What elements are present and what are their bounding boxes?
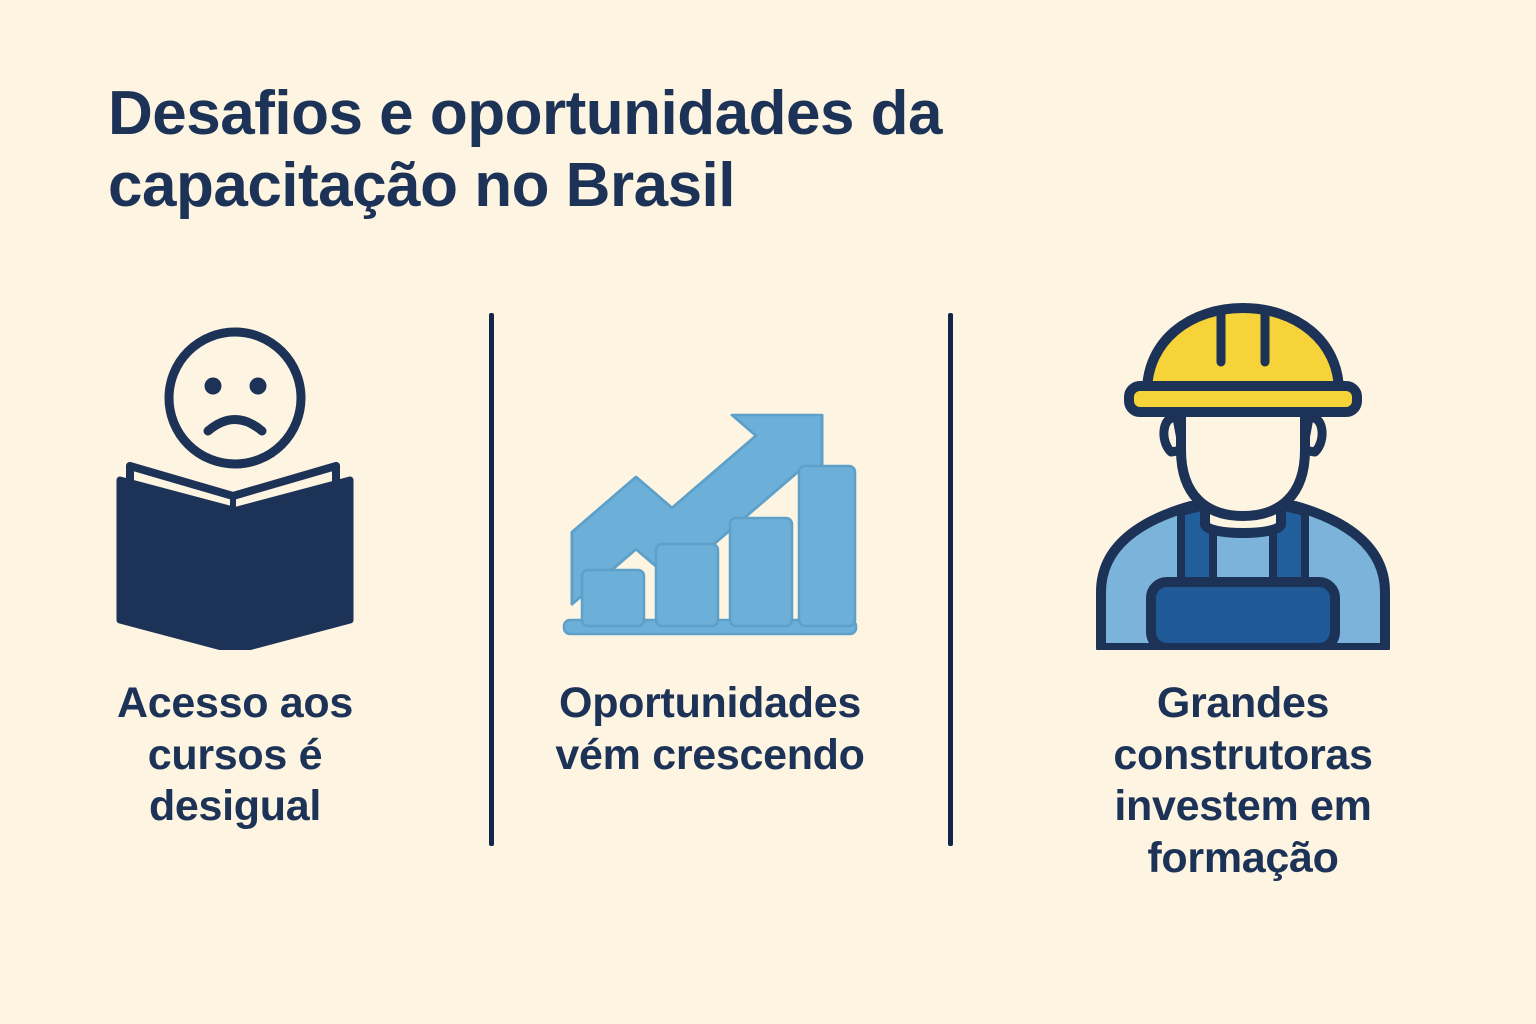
sad-face-reading-book-icon <box>100 320 370 650</box>
chart-bar <box>799 466 855 626</box>
icon-wrap-3 <box>1063 300 1423 650</box>
construction-worker-icon <box>1063 300 1423 650</box>
chart-bar <box>582 570 644 626</box>
hard-hat-dome <box>1147 308 1339 392</box>
columns-container: Acesso aos cursos é desigual Oportunidad… <box>0 300 1536 940</box>
worker-face <box>1181 404 1305 516</box>
infographic-canvas: Desafios e oportunidades da capacitação … <box>0 0 1536 1024</box>
caption-oportunidades: Oportunidades vém crescendo <box>500 678 920 781</box>
growth-bar-chart-arrow-icon <box>560 320 860 650</box>
page-title: Desafios e oportunidades da capacitação … <box>108 78 1288 222</box>
caption-construtoras: Grandes construtoras investem em formaçã… <box>1053 678 1433 884</box>
worker-overall-bib <box>1151 582 1335 648</box>
column-construtoras: Grandes construtoras investem em formaçã… <box>950 300 1536 884</box>
chart-bar <box>730 518 792 626</box>
hard-hat-brim <box>1129 386 1357 412</box>
chart-bar <box>656 544 718 626</box>
caption-acesso-desigual: Acesso aos cursos é desigual <box>70 678 400 833</box>
column-oportunidades: Oportunidades vém crescendo <box>470 300 950 781</box>
icon-wrap-1 <box>100 300 370 650</box>
column-acesso-desigual: Acesso aos cursos é desigual <box>0 300 470 833</box>
icon-wrap-2 <box>560 300 860 650</box>
